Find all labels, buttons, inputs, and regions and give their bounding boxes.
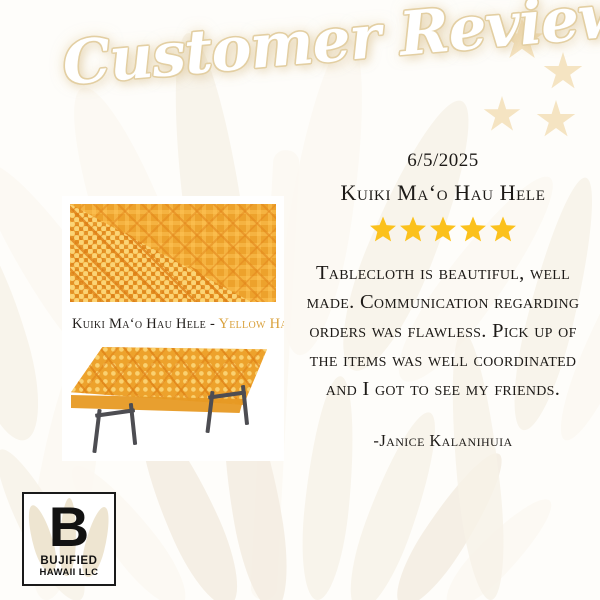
table-product-image xyxy=(65,343,281,455)
rating-star-icon xyxy=(460,216,487,243)
product-caption: Kuiki Maʻo Hau Hele - Yellow Half xyxy=(62,316,284,333)
star-rating xyxy=(296,216,590,243)
flower-petal-icon xyxy=(383,443,516,600)
flower-petal-icon xyxy=(435,487,563,600)
product-caption-variant: Yellow Half xyxy=(218,316,284,332)
product-column: Kuiki Maʻo Hau Hele - Yellow Half xyxy=(62,196,284,461)
brand-logo: B BUJIFIED HAWAII LLC xyxy=(22,492,116,586)
page-title: Customer Review xyxy=(60,0,533,94)
rating-star-icon xyxy=(370,216,397,243)
logo-brand-subtitle: HAWAII LLC xyxy=(40,567,99,578)
review-body-text: Tablecloth is beautiful, well made. Comm… xyxy=(296,259,590,405)
fabric-swatch-image xyxy=(70,204,276,302)
rating-star-icon xyxy=(430,216,457,243)
table-leg xyxy=(92,409,101,453)
review-column: 6/5/2025 Kuiki Maʻo Hau Hele Tablecloth … xyxy=(296,150,590,451)
logo-brand-name: BUJIFIED xyxy=(40,555,97,567)
rating-star-icon xyxy=(400,216,427,243)
leaf-blade-icon xyxy=(0,211,54,449)
review-product-name: Kuiki Maʻo Hau Hele xyxy=(296,180,590,206)
rating-star-icon xyxy=(490,216,517,243)
review-graphic-canvas: Customer Review Kuiki Maʻo Hau Hele - Ye… xyxy=(0,0,600,600)
review-date: 6/5/2025 xyxy=(296,150,590,172)
product-card: Kuiki Maʻo Hau Hele - Yellow Half xyxy=(62,196,284,461)
product-caption-name: Kuiki Maʻo Hau Hele - xyxy=(72,316,218,332)
header: Customer Review xyxy=(0,0,600,150)
review-author: -Janice Kalanihuia xyxy=(296,431,590,451)
logo-mark-letter: B xyxy=(49,500,89,554)
